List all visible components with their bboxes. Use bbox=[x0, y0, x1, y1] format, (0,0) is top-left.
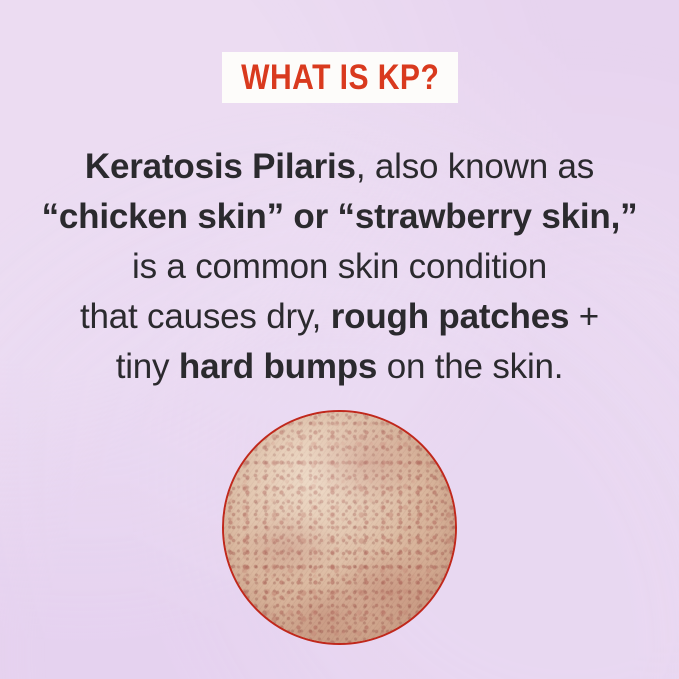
body-line-4-seg-1: that causes dry, bbox=[80, 297, 331, 336]
kp-infographic-card: WHAT IS KP? Keratosis Pilaris, also know… bbox=[0, 0, 679, 679]
body-copy: Keratosis Pilaris, also known as “chicke… bbox=[0, 142, 679, 392]
body-line-4-seg-2: rough patches bbox=[331, 297, 570, 336]
body-line-4: that causes dry, rough patches + bbox=[0, 292, 679, 342]
body-line-3-seg-1: is a common skin condition bbox=[132, 247, 547, 286]
body-line-2: “chicken skin” or “strawberry skin,” bbox=[0, 192, 679, 242]
body-line-5: tiny hard bumps on the skin. bbox=[0, 342, 679, 392]
body-line-1-seg-1: Keratosis Pilaris bbox=[85, 147, 356, 186]
page-title: WHAT IS KP? bbox=[241, 60, 439, 95]
skin-vignette-layer bbox=[222, 410, 457, 645]
body-line-5-seg-3: on the skin. bbox=[377, 347, 563, 386]
body-line-5-seg-2: hard bumps bbox=[179, 347, 377, 386]
body-line-3: is a common skin condition bbox=[0, 242, 679, 292]
body-line-1-seg-2: , also known as bbox=[356, 147, 594, 186]
body-line-2-seg-1: “chicken skin” or “strawberry skin,” bbox=[42, 197, 638, 236]
skin-closeup-photo bbox=[222, 410, 457, 645]
body-line-1: Keratosis Pilaris, also known as bbox=[0, 142, 679, 192]
body-line-4-seg-3: + bbox=[569, 297, 599, 336]
title-banner: WHAT IS KP? bbox=[222, 52, 458, 103]
body-line-5-seg-1: tiny bbox=[116, 347, 179, 386]
